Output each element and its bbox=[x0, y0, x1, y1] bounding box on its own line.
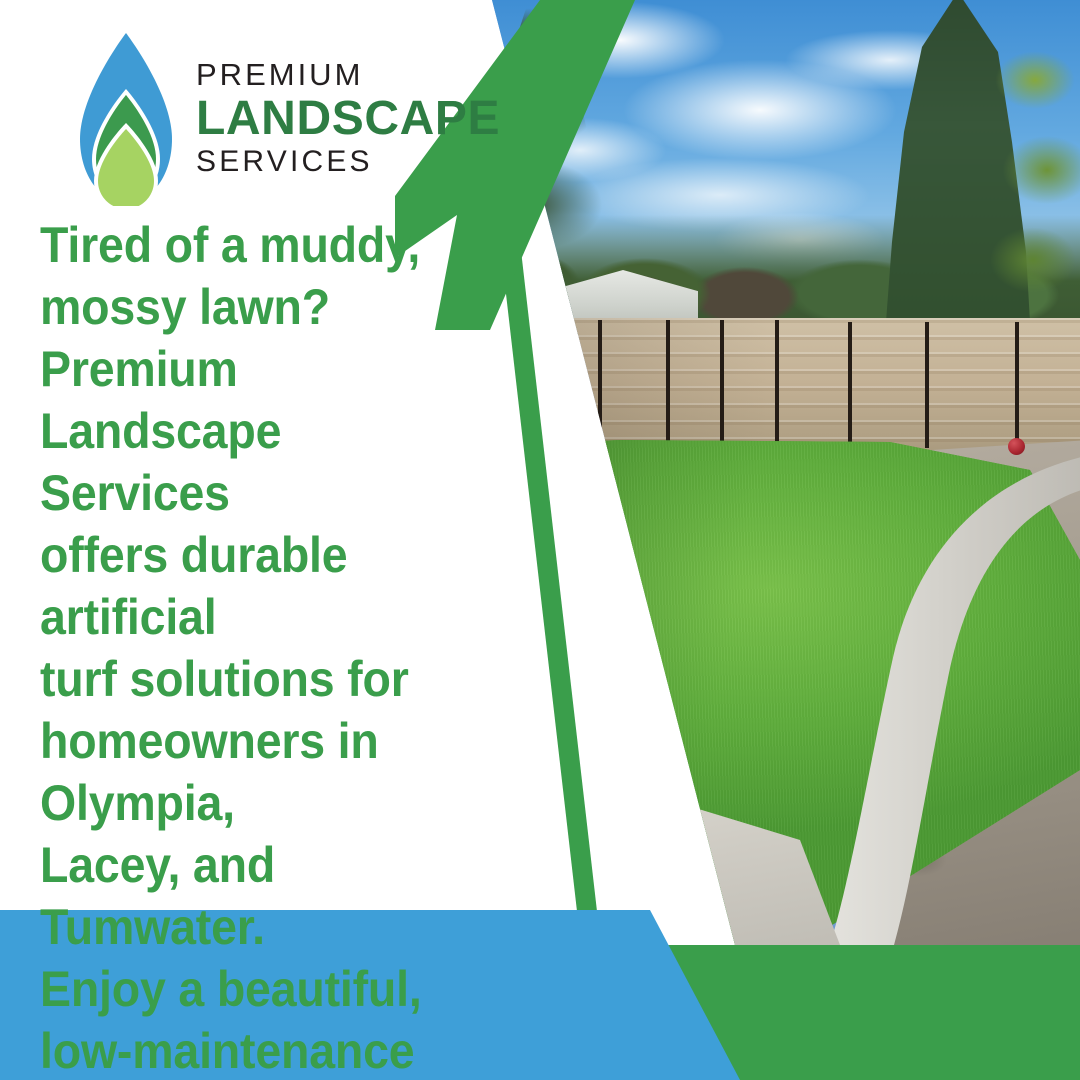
fence-post bbox=[848, 322, 852, 446]
logo-text-premium: PREMIUM bbox=[196, 59, 500, 90]
fence-post bbox=[598, 320, 602, 466]
fence-post bbox=[1015, 322, 1019, 450]
logo-wordmark: PREMIUM LANDSCAPE SERVICES bbox=[196, 59, 500, 177]
logo-text-services: SERVICES bbox=[196, 147, 500, 177]
logo-text-landscape: LANDSCAPE bbox=[196, 95, 500, 143]
red-ball bbox=[1008, 438, 1025, 455]
brand-logo[interactable]: PREMIUM LANDSCAPE SERVICES bbox=[78, 28, 478, 208]
deciduous-tree bbox=[975, 20, 1080, 310]
ad-canvas: PREMIUM LANDSCAPE SERVICES Tired of a mu… bbox=[0, 0, 1080, 1080]
fence-post bbox=[775, 320, 779, 446]
fence-post bbox=[720, 320, 724, 462]
headline-copy: Tired of a muddy, mossy lawn? Premium La… bbox=[40, 214, 477, 1080]
water-drop-leaf-logo-icon bbox=[78, 31, 174, 206]
fence-post bbox=[925, 322, 929, 448]
